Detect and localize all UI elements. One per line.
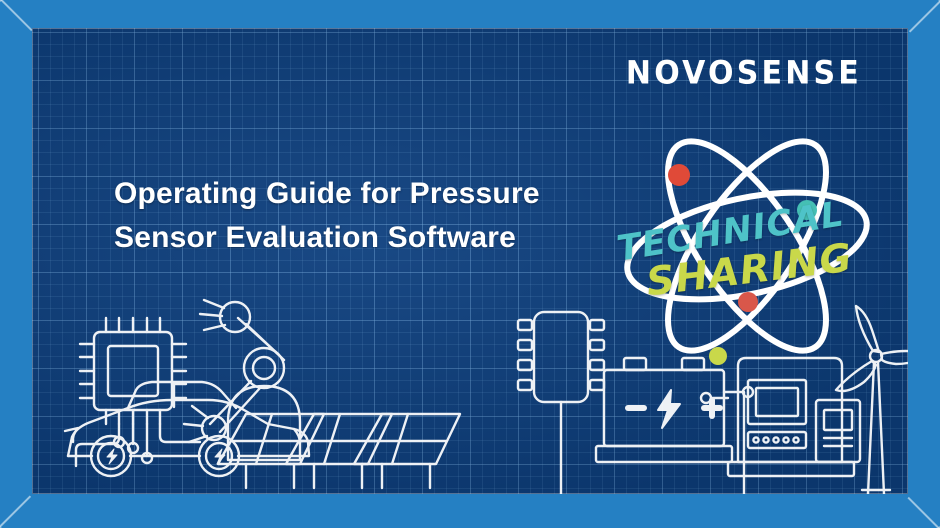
battery-icon [596,358,753,494]
page-title: Operating Guide for Pressure Sensor Eval… [114,172,614,260]
dip-chip-icon [518,312,604,494]
atom-dot-teal [797,200,817,220]
microchip-icon [76,318,200,466]
robotic-arm-icon [184,300,300,460]
electric-car-icon [65,382,309,476]
page-title-line-1: Operating Guide for Pressure [114,172,614,216]
page-title-line-2: Sensor Evaluation Software [114,216,614,260]
novosense-logo: NOVOSENSE [626,55,862,92]
icon-strip-svg [32,304,908,494]
solar-panel-icon [218,414,460,488]
presentation-slide: NOVOSENSE Operating Guide for Pressure S… [0,0,940,528]
icon-illustration-strip [32,304,908,494]
blueprint-panel: NOVOSENSE Operating Guide for Pressure S… [32,28,908,494]
atom-dot-red-top [668,164,690,186]
